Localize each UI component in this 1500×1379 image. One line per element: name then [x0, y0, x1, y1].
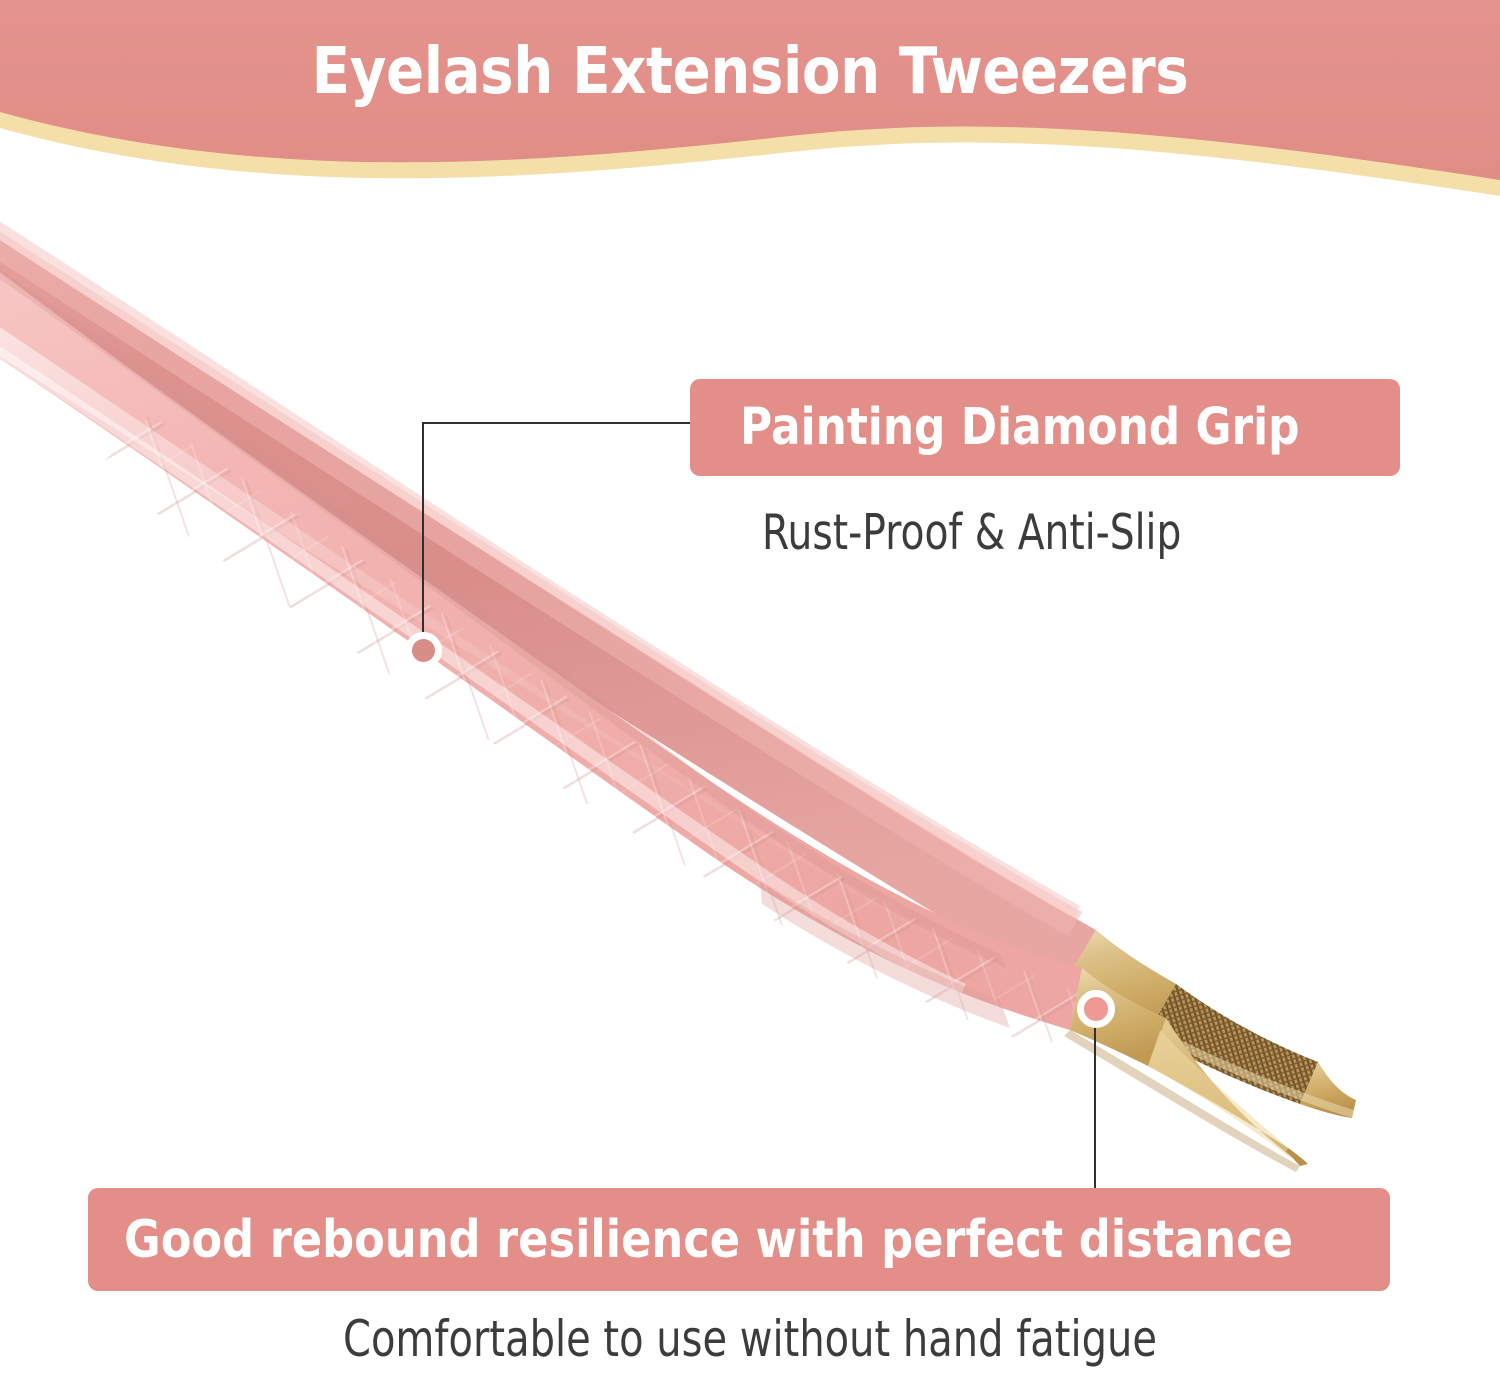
callout-marker-tip[interactable]	[1077, 990, 1115, 1028]
header-band: Eyelash Extension Tweezers	[0, 0, 1500, 200]
tweezer-upper-arm	[0, 196, 1096, 988]
leader-line-grip-horizontal	[422, 422, 690, 424]
product-illustration	[0, 0, 1500, 1379]
tweezer-lower-arm	[0, 242, 1300, 1100]
callout-box-grip[interactable]: Painting Diamond Grip	[690, 379, 1400, 476]
callout-label-grip: Painting Diamond Grip	[740, 400, 1308, 455]
infographic-canvas: Eyelash Extension Tweezers	[0, 0, 1500, 1379]
callout-label-rebound: Good rebound resilience with perfect dis…	[124, 1212, 1293, 1268]
callout-subtitle-grip: Rust-Proof & Anti-Slip	[762, 505, 1181, 561]
callout-marker-grip[interactable]	[405, 632, 442, 669]
leader-line-rebound-vertical	[1094, 1025, 1096, 1189]
page-title: Eyelash Extension Tweezers	[90, 34, 1410, 110]
callout-subtitle-rebound: Comfortable to use without hand fatigue	[150, 1310, 1350, 1368]
leader-line-grip-vertical	[422, 423, 424, 650]
callout-box-rebound[interactable]: Good rebound resilience with perfect dis…	[88, 1188, 1390, 1291]
